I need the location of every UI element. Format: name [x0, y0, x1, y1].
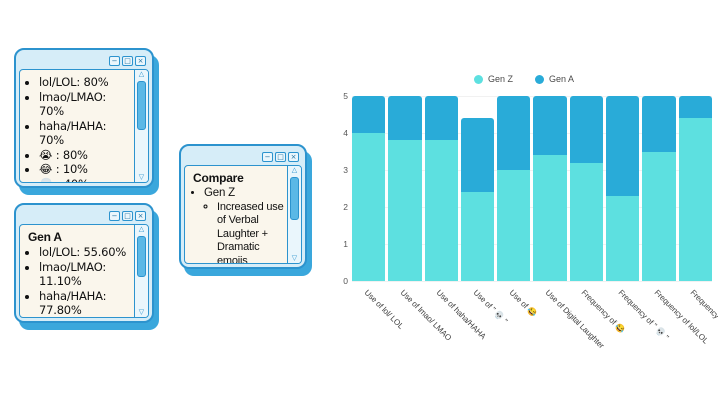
bars-container [352, 96, 712, 281]
x-axis-label: Use of lol/ LOL [352, 286, 385, 406]
window-content: Gen A lol/LOL: 55.60% lmao/LMAO: 11.10% … [20, 225, 134, 317]
vertical-scrollbar[interactable]: △ ▽ [134, 225, 148, 317]
scroll-down-icon[interactable]: ▽ [292, 255, 297, 262]
gen-a-stats-window[interactable]: − □ × Gen A lol/LOL: 55.60% lmao/LMAO: 1… [14, 203, 154, 323]
bar-segment-gen-a[interactable] [497, 96, 530, 170]
bar-stack[interactable] [352, 96, 385, 281]
x-axis-label: Use of " 💀 " [461, 286, 494, 406]
y-axis-tick: 0 [343, 276, 348, 286]
bar-segment-gen-a[interactable] [606, 96, 639, 196]
bar-segment-gen-a[interactable] [425, 96, 458, 140]
y-axis-tick: 5 [343, 91, 348, 101]
list-item: haha/HAHA: 77.80% [39, 289, 132, 318]
scrollbar-thumb[interactable] [137, 81, 146, 130]
bar-segment-gen-a[interactable] [352, 96, 385, 133]
minimize-button[interactable]: − [109, 211, 120, 221]
window-content: Compare Gen Z Increased use of Verbal La… [185, 166, 287, 263]
bar-segment-gen-a[interactable] [679, 96, 712, 118]
bar-stack[interactable] [425, 96, 458, 281]
close-button[interactable]: × [135, 211, 146, 221]
bar-segment-gen-z[interactable] [388, 140, 421, 281]
list-item: 😭 : 80% [39, 148, 132, 163]
maximize-button[interactable]: □ [122, 211, 133, 221]
window-heading: Compare [193, 171, 285, 185]
bar-segment-gen-z[interactable] [425, 140, 458, 281]
chart-legend: Gen Z Gen A [330, 74, 718, 84]
x-axis-label: Frequency of 😂 [570, 286, 603, 406]
scroll-up-icon[interactable]: △ [139, 71, 144, 78]
bar-segment-gen-z[interactable] [570, 163, 603, 281]
maximize-button[interactable]: □ [275, 152, 286, 162]
legend-item-gen-a[interactable]: Gen A [535, 74, 574, 84]
window-heading: Gen A [28, 230, 132, 244]
stacked-bar-chart: Gen Z Gen A 012345 Use of lol/ LOLUse of… [330, 56, 718, 404]
title-bar[interactable]: − □ × [19, 208, 149, 224]
x-axis-label: Frequency of " 💀 " [606, 286, 639, 406]
list-item: 😂 : 10% [39, 162, 132, 177]
y-axis-tick: 2 [343, 202, 348, 212]
title-bar[interactable]: − □ × [184, 149, 302, 165]
list-item: haha/HAHA: 70% [39, 119, 132, 148]
vertical-scrollbar[interactable]: △ ▽ [134, 70, 148, 182]
list-item: lol/LOL: 55.60% [39, 245, 132, 260]
bar-stack[interactable] [461, 96, 494, 281]
bar-segment-gen-a[interactable] [570, 96, 603, 163]
x-axis-label: Use of 😂 [497, 286, 530, 406]
close-button[interactable]: × [135, 56, 146, 66]
title-bar[interactable]: − □ × [19, 53, 149, 69]
gridline [352, 281, 712, 282]
y-axis-tick: 4 [343, 128, 348, 138]
bar-segment-gen-z[interactable] [352, 133, 385, 281]
legend-label-gen-a: Gen A [549, 74, 574, 84]
bar-segment-gen-a[interactable] [461, 118, 494, 192]
compare-window[interactable]: − □ × Compare Gen Z Increased use of Ver… [179, 144, 307, 269]
x-axis-label: Frequency of Recieved [679, 286, 712, 406]
x-axis-label: Use of lmao/ LMAO [388, 286, 421, 406]
bar-stack[interactable] [570, 96, 603, 281]
bar-segment-gen-a[interactable] [533, 96, 566, 155]
scroll-down-icon[interactable]: ▽ [139, 309, 144, 316]
bar-stack[interactable] [606, 96, 639, 281]
y-axis: 012345 [330, 96, 352, 281]
bar-segment-gen-z[interactable] [642, 152, 675, 282]
bar-segment-gen-z[interactable] [497, 170, 530, 281]
list-item: lol/LOL: 80% [39, 75, 132, 90]
scrollbar-thumb[interactable] [290, 177, 299, 220]
list-item: 💀 : 40% [39, 177, 132, 183]
scroll-up-icon[interactable]: △ [292, 167, 297, 174]
bar-stack[interactable] [533, 96, 566, 281]
y-axis-tick: 1 [343, 239, 348, 249]
x-axis-label: Use of haha/HAHA [425, 286, 458, 406]
bar-stack[interactable] [642, 96, 675, 281]
list-item: Increased use of Verbal Laughter + Drama… [217, 201, 285, 264]
x-axis-label: Use of Digital Laughter [533, 286, 566, 406]
gen-a-stat-list: lol/LOL: 55.60% lmao/LMAO: 11.10% haha/H… [26, 245, 132, 317]
legend-swatch-gen-a [535, 75, 544, 84]
y-axis-tick: 3 [343, 165, 348, 175]
bar-segment-gen-z[interactable] [533, 155, 566, 281]
bar-segment-gen-z[interactable] [461, 192, 494, 281]
list-item: Gen Z [204, 186, 285, 201]
maximize-button[interactable]: □ [122, 56, 133, 66]
scroll-down-icon[interactable]: ▽ [139, 174, 144, 181]
compare-sublist: Increased use of Verbal Laughter + Drama… [204, 201, 285, 264]
list-item: lmao/LMAO: 70% [39, 90, 132, 119]
bar-stack[interactable] [497, 96, 530, 281]
x-axis-label: Frequency of lol/LOL [642, 286, 675, 406]
legend-label-gen-z: Gen Z [488, 74, 513, 84]
scroll-up-icon[interactable]: △ [139, 226, 144, 233]
list-item: lmao/LMAO: 11.10% [39, 260, 132, 289]
window-content: lol/LOL: 80% lmao/LMAO: 70% haha/HAHA: 7… [20, 70, 134, 182]
minimize-button[interactable]: − [262, 152, 273, 162]
bar-stack[interactable] [679, 96, 712, 281]
bar-segment-gen-z[interactable] [679, 118, 712, 281]
bar-segment-gen-z[interactable] [606, 196, 639, 281]
gen-z-stats-window[interactable]: − □ × lol/LOL: 80% lmao/LMAO: 70% haha/H… [14, 48, 154, 188]
compare-list: Gen Z Increased use of Verbal Laughter +… [191, 186, 285, 263]
legend-item-gen-z[interactable]: Gen Z [474, 74, 513, 84]
bar-segment-gen-a[interactable] [642, 96, 675, 152]
plot-area: 012345 Use of lol/ LOLUse of lmao/ LMAOU… [330, 96, 718, 291]
close-button[interactable]: × [288, 152, 299, 162]
gen-z-stat-list: lol/LOL: 80% lmao/LMAO: 70% haha/HAHA: 7… [26, 75, 132, 182]
legend-swatch-gen-z [474, 75, 483, 84]
scrollbar-thumb[interactable] [137, 236, 146, 277]
bar-stack[interactable] [388, 96, 421, 281]
bar-segment-gen-a[interactable] [388, 96, 421, 140]
vertical-scrollbar[interactable]: △ ▽ [287, 166, 301, 263]
x-axis-labels: Use of lol/ LOLUse of lmao/ LMAOUse of h… [352, 286, 712, 406]
minimize-button[interactable]: − [109, 56, 120, 66]
